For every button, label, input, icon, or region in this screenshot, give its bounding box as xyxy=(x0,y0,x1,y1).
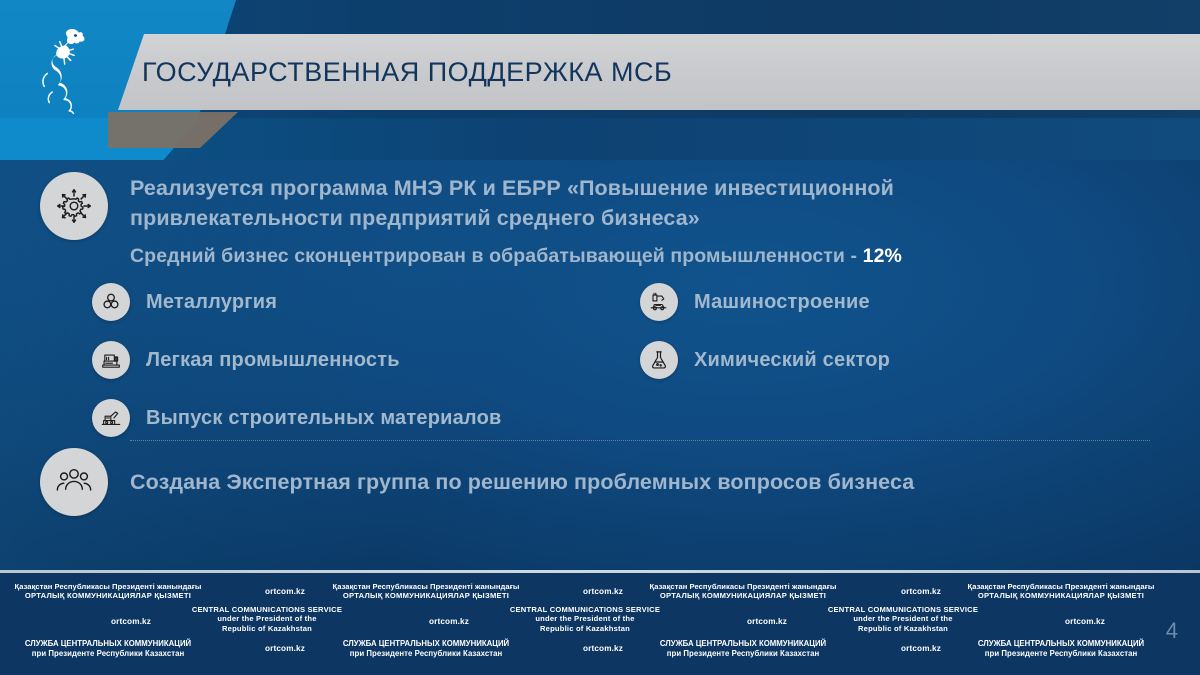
footer-ru-line1: СЛУЖБА ЦЕНТРАЛЬНЫХ КОММУНИКАЦИЙ xyxy=(931,639,1191,649)
sector-column-right: Машиностроение xyxy=(640,282,1140,398)
gear-expand-icon xyxy=(40,172,108,240)
slide-header: ГОСУДАРСТВЕННАЯ ПОДДЕРЖКА МСБ xyxy=(0,0,1200,160)
bottom-statement: Создана Экспертная группа по решению про… xyxy=(130,470,914,495)
sewing-machine-icon xyxy=(92,341,130,379)
list-item: Легкая промышленность xyxy=(92,340,612,380)
footer-en-line1: CENTRAL COMMUNICATIONS SERVICE xyxy=(142,605,392,614)
footer-ru-block: СЛУЖБА ЦЕНТРАЛЬНЫХ КОММУНИКАЦИЙ при През… xyxy=(931,639,1191,658)
footer-url: ortcom.kz xyxy=(1030,617,1140,627)
sector-label: Металлургия xyxy=(146,291,277,314)
footer-kz-line2: ОРТАЛЫҚ КОММУНИКАЦИЯЛАР ҚЫЗМЕТІ xyxy=(931,591,1191,600)
footer-kz-line2: ОРТАЛЫҚ КОММУНИКАЦИЯЛАР ҚЫЗМЕТІ xyxy=(296,591,556,600)
footer-kz-line1: Қазақстан Республикасы Президенті жанынд… xyxy=(0,582,238,591)
page-title: ГОСУДАРСТВЕННАЯ ПОДДЕРЖКА МСБ xyxy=(142,57,672,88)
molecule-icon xyxy=(92,283,130,321)
sector-column-left: Металлургия xyxy=(92,282,612,456)
sector-label: Химический сектор xyxy=(694,349,890,372)
footer-kz-block: Қазақстан Республикасы Президенті жанынд… xyxy=(296,582,556,601)
footer-kz-line1: Қазақстан Республикасы Президенті жанынд… xyxy=(296,582,556,591)
footer-ru-line2: при Президенте Республики Казахстан xyxy=(0,649,238,659)
sub-statistic-value: 12% xyxy=(863,245,902,267)
snow-leopard-emblem xyxy=(28,22,94,114)
lead-block: Реализуется программа МНЭ РК и ЕБРР «Пов… xyxy=(40,172,1160,268)
sub-statistic-text: Средний бизнес сконцентрирован в обрабат… xyxy=(130,245,863,267)
footer-kz-line1: Қазақстан Республикасы Президенті жанынд… xyxy=(613,582,873,591)
slide-content: Реализуется программа МНЭ РК и ЕБРР «Пов… xyxy=(0,160,1200,572)
slide-root: ГОСУДАРСТВЕННАЯ ПОДДЕРЖКА МСБ xyxy=(0,0,1200,675)
footer-url: ortcom.kz xyxy=(76,617,186,627)
footer-kz-line2: ОРТАЛЫҚ КОММУНИКАЦИЯЛАР ҚЫЗМЕТІ xyxy=(613,591,873,600)
sector-label: Легкая промышленность xyxy=(146,349,400,372)
footer-kz-block: Қазақстан Республикасы Президенті жанынд… xyxy=(0,582,238,601)
section-divider xyxy=(130,440,1150,441)
footer-en-line1: CENTRAL COMMUNICATIONS SERVICE xyxy=(460,605,710,614)
footer-en-line1: CENTRAL COMMUNICATIONS SERVICE xyxy=(778,605,1028,614)
construction-machine-icon xyxy=(92,399,130,437)
sector-label: Выпуск строительных материалов xyxy=(146,407,501,430)
lead-paragraph: Реализуется программа МНЭ РК и ЕБРР «Пов… xyxy=(130,174,1070,233)
footer-ru-line2: при Президенте Республики Казахстан xyxy=(613,649,873,659)
footer-kz-line1: Қазақстан Республикасы Президенті жанынд… xyxy=(931,582,1191,591)
page-number: 4 xyxy=(1166,618,1178,644)
sector-label: Машиностроение xyxy=(694,291,870,314)
footer-ru-block: СЛУЖБА ЦЕНТРАЛЬНЫХ КОММУНИКАЦИЙ при През… xyxy=(296,639,556,658)
lead-text-block: Реализуется программа МНЭ РК и ЕБРР «Пов… xyxy=(130,172,1070,268)
people-group-icon xyxy=(40,448,108,516)
footer-ru-block: СЛУЖБА ЦЕНТРАЛЬНЫХ КОММУНИКАЦИЙ при През… xyxy=(613,639,873,658)
list-item: Металлургия xyxy=(92,282,612,322)
footer-ru-block: СЛУЖБА ЦЕНТРАЛЬНЫХ КОММУНИКАЦИЙ при През… xyxy=(0,639,238,658)
list-item: Машиностроение xyxy=(640,282,1140,322)
footer-kz-block: Қазақстан Республикасы Президенті жанынд… xyxy=(931,582,1191,601)
list-item: Химический сектор xyxy=(640,340,1140,380)
sub-statistic: Средний бизнес сконцентрирован в обрабат… xyxy=(130,245,1070,268)
title-banner: ГОСУДАРСТВЕННАЯ ПОДДЕРЖКА МСБ xyxy=(118,34,1200,110)
machinery-vehicle-icon xyxy=(640,283,678,321)
slide-footer: Қазақстан Республикасы Президенті жанынд… xyxy=(0,573,1200,675)
list-item: Выпуск строительных материалов xyxy=(92,398,612,438)
footer-ru-line1: СЛУЖБА ЦЕНТРАЛЬНЫХ КОММУНИКАЦИЙ xyxy=(613,639,873,649)
footer-kz-line2: ОРТАЛЫҚ КОММУНИКАЦИЯЛАР ҚЫЗМЕТІ xyxy=(0,591,238,600)
footer-ru-line1: СЛУЖБА ЦЕНТРАЛЬНЫХ КОММУНИКАЦИЙ xyxy=(0,639,238,649)
footer-ru-line1: СЛУЖБА ЦЕНТРАЛЬНЫХ КОММУНИКАЦИЙ xyxy=(296,639,556,649)
footer-ru-line2: при Президенте Республики Казахстан xyxy=(296,649,556,659)
footer-ru-line2: при Президенте Республики Казахстан xyxy=(931,649,1191,659)
bottom-block: Создана Экспертная группа по решению про… xyxy=(40,448,1160,516)
flask-icon xyxy=(640,341,678,379)
footer-kz-block: Қазақстан Республикасы Президенті жанынд… xyxy=(613,582,873,601)
footer-url: ortcom.kz xyxy=(712,617,822,627)
footer-url: ortcom.kz xyxy=(394,617,504,627)
